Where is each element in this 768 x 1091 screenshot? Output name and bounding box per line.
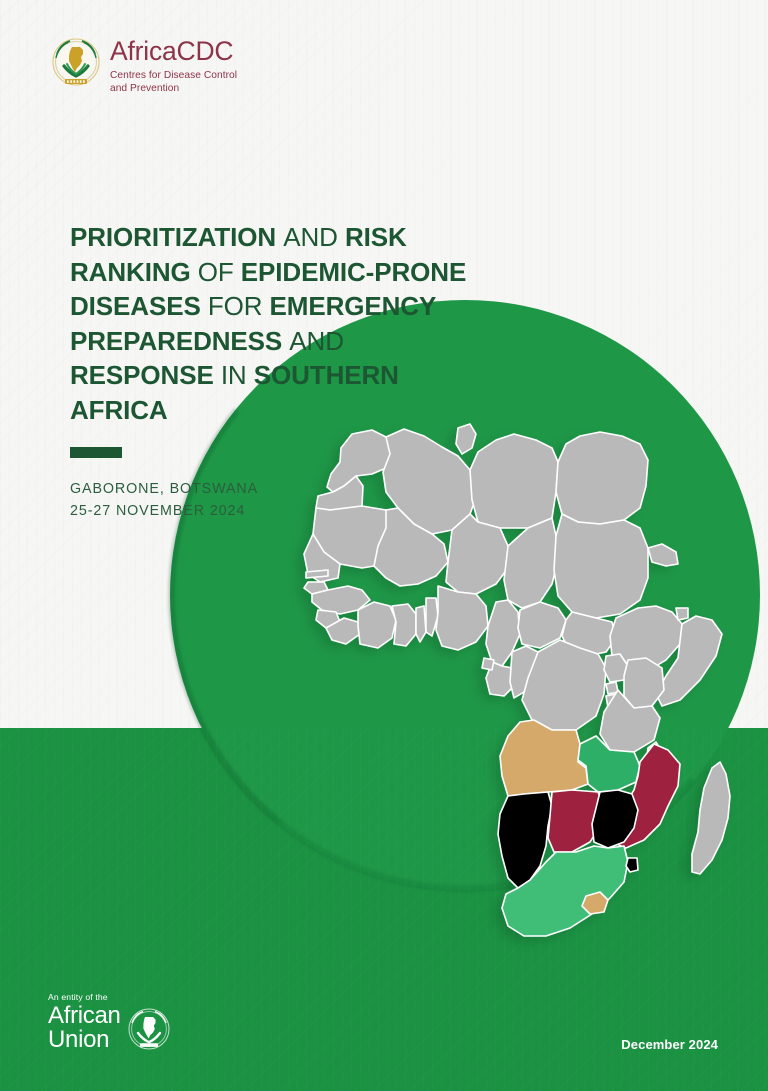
report-cover-page: AfricaCDC Centres for Disease Control an…	[0, 0, 768, 1091]
country-kenya	[624, 658, 664, 708]
title-segment-5: FOR	[208, 291, 263, 321]
country-angola	[500, 720, 588, 796]
title-segment-0: PRIORITIZATION	[70, 222, 276, 252]
event-location: GABORONE, BOTSWANA	[70, 478, 258, 500]
african-union-logo: An entity of the African Union	[48, 993, 171, 1053]
country-djibouti	[676, 608, 688, 620]
country-gambia	[306, 570, 328, 578]
africa-cdc-emblem-icon	[50, 36, 102, 92]
country-tunisia	[456, 424, 476, 454]
title-segment-8: RESPONSE	[70, 360, 214, 390]
country-chad	[504, 518, 558, 608]
african-union-wordmark: An entity of the African Union	[48, 993, 121, 1053]
africa-cdc-tagline-line2: and Prevention	[110, 82, 237, 95]
country-cote-divoire	[358, 602, 396, 648]
africa-cdc-tagline-line1: Centres for Disease Control	[110, 69, 237, 82]
title-segment-1: AND	[283, 222, 338, 252]
country-sudan	[554, 514, 648, 618]
africa-map	[0, 0, 768, 1091]
publication-date: December 2024	[621, 1037, 718, 1052]
country-egypt	[556, 432, 648, 524]
country-libya	[470, 434, 558, 528]
title-segment-7: AND	[289, 326, 344, 356]
title-segment-3: OF	[198, 257, 234, 287]
country-eswatini	[626, 858, 638, 872]
country-togo	[416, 606, 426, 642]
country-nigeria	[436, 586, 488, 650]
africa-cdc-wordmark: AfricaCDC Centres for Disease Control an…	[110, 36, 237, 95]
country-eq-guinea	[482, 658, 494, 670]
africa-cdc-name: AfricaCDC	[110, 38, 237, 65]
africa-cdc-logo: AfricaCDC Centres for Disease Control an…	[50, 36, 237, 95]
country-madagascar	[692, 762, 730, 874]
african-union-emblem-icon	[127, 1007, 171, 1051]
event-dates: 25-27 NOVEMBER 2024	[70, 500, 258, 522]
event-meta: GABORONE, BOTSWANA 25-27 NOVEMBER 2024	[70, 478, 258, 522]
title-segment-9: IN	[221, 360, 247, 390]
page-title: PRIORITIZATION AND RISK RANKING OF EPIDE…	[70, 220, 490, 427]
country-lesotho	[582, 892, 608, 914]
country-ghana	[392, 604, 416, 646]
african-union-name-line1: African	[48, 1004, 121, 1028]
african-union-entity-line: An entity of the	[48, 993, 121, 1002]
african-union-name-line2: Union	[48, 1028, 121, 1052]
title-divider-rule	[70, 447, 122, 458]
africa-cdc-tagline: Centres for Disease Control and Preventi…	[110, 69, 237, 96]
country-eritrea	[648, 544, 678, 566]
